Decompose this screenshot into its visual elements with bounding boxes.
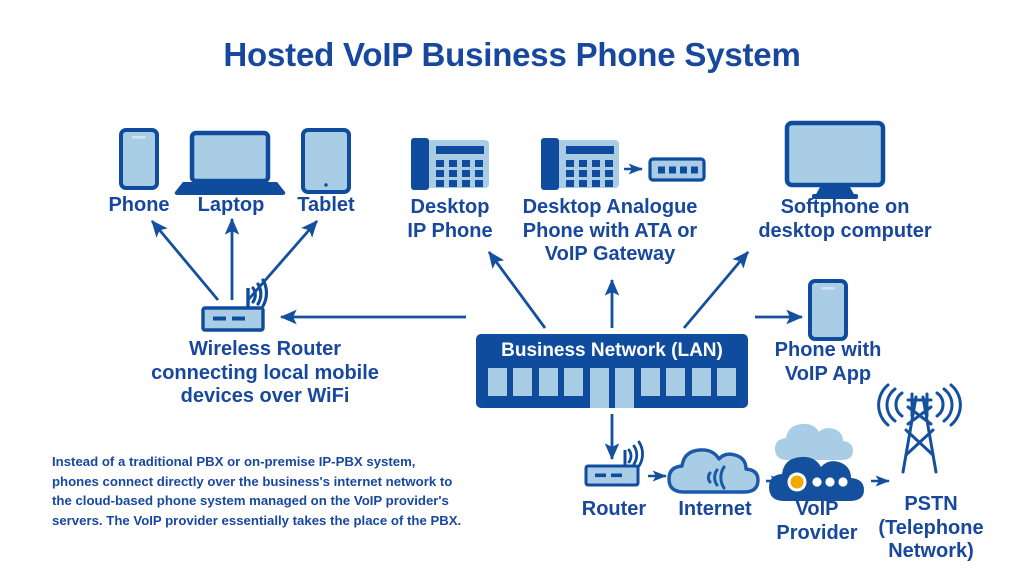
label-line: desktop computer bbox=[740, 220, 950, 244]
lan-port bbox=[666, 368, 685, 396]
lan-port bbox=[692, 368, 711, 396]
voip-cloud-icon bbox=[769, 424, 864, 501]
label-internet: Internet bbox=[659, 498, 771, 522]
lan-port bbox=[564, 368, 583, 396]
label-line: PSTN bbox=[866, 493, 996, 517]
wireless-router-icon bbox=[586, 442, 643, 485]
diagram-canvas: Hosted VoIP Business Phone System bbox=[0, 0, 1024, 576]
business-network-lan-box: Business Network (LAN) bbox=[476, 334, 748, 408]
connector-router-to-tablet bbox=[248, 221, 317, 300]
lan-port bbox=[539, 368, 558, 396]
paragraph-line: Instead of a traditional PBX or on-premi… bbox=[52, 452, 512, 472]
ata-box-icon bbox=[650, 159, 704, 180]
tablet-icon bbox=[303, 130, 349, 192]
label-line: VoIP App bbox=[758, 363, 898, 387]
label-line: connecting local mobile bbox=[130, 362, 400, 386]
lan-port bbox=[717, 368, 736, 396]
label-softphone: Softphone on desktop computer bbox=[740, 196, 950, 243]
label-line: Provider bbox=[764, 522, 870, 546]
label-phone: Phone bbox=[90, 194, 188, 218]
label-pstn: PSTN (Telephone Network) bbox=[866, 493, 996, 564]
laptop-icon bbox=[175, 133, 285, 195]
explanatory-paragraph: Instead of a traditional PBX or on-premi… bbox=[52, 452, 512, 530]
label-line: Network) bbox=[866, 540, 996, 564]
lan-port bbox=[488, 368, 507, 396]
label-line: IP Phone bbox=[386, 220, 514, 244]
label-line: devices over WiFi bbox=[130, 385, 400, 409]
label-line: VoIP bbox=[764, 498, 870, 522]
label-line: Softphone on bbox=[740, 196, 950, 220]
label-tablet: Tablet bbox=[277, 194, 375, 218]
label-laptop: Laptop bbox=[181, 194, 281, 218]
paragraph-line: the cloud-based phone system managed on … bbox=[52, 491, 512, 511]
lan-ports bbox=[488, 368, 736, 408]
label-line: Desktop Analogue bbox=[510, 196, 710, 220]
paragraph-line: servers. The VoIP provider essentially t… bbox=[52, 511, 512, 531]
lan-port bbox=[590, 368, 609, 408]
cell-tower-icon bbox=[879, 385, 961, 472]
label-line: Wireless Router bbox=[130, 338, 400, 362]
paragraph-line: phones connect directly over the busines… bbox=[52, 472, 512, 492]
lan-port bbox=[615, 368, 634, 408]
label-desktop-ip-phone: Desktop IP Phone bbox=[386, 196, 514, 243]
label-router: Router bbox=[562, 498, 666, 522]
label-phone-voip-app: Phone with VoIP App bbox=[758, 339, 898, 386]
monitor-icon bbox=[787, 123, 883, 199]
desk-phone-icon bbox=[541, 138, 619, 190]
lan-port bbox=[641, 368, 660, 396]
lan-label: Business Network (LAN) bbox=[476, 340, 748, 362]
connector-router-to-phone bbox=[152, 221, 218, 300]
label-line: VoIP Gateway bbox=[510, 243, 710, 267]
desk-phone-icon bbox=[411, 138, 489, 190]
smartphone-icon bbox=[121, 130, 157, 188]
label-line: Phone with bbox=[758, 339, 898, 363]
smartphone-icon bbox=[810, 281, 846, 339]
label-line: Phone with ATA or bbox=[510, 220, 710, 244]
label-wireless-router: Wireless Router connecting local mobile … bbox=[130, 338, 400, 409]
label-line: (Telephone bbox=[866, 517, 996, 541]
label-voip-provider: VoIP Provider bbox=[764, 498, 870, 545]
cloud-wifi-icon bbox=[669, 450, 758, 492]
lan-port bbox=[513, 368, 532, 396]
label-desktop-analogue: Desktop Analogue Phone with ATA or VoIP … bbox=[510, 196, 710, 267]
label-line: Desktop bbox=[386, 196, 514, 220]
wireless-router-icon bbox=[203, 280, 266, 330]
